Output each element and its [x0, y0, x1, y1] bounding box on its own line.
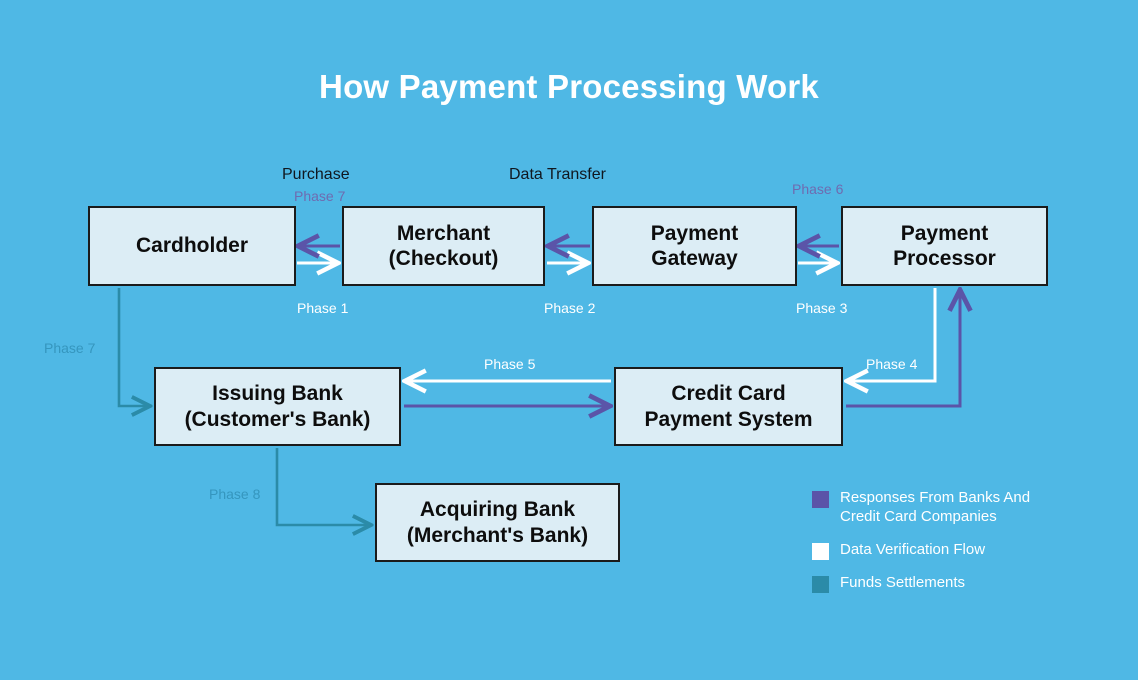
- label-data-transfer: Data Transfer: [509, 166, 606, 184]
- node-creditcard-line2: Payment System: [644, 407, 812, 432]
- purple-square-swatch: [812, 491, 829, 508]
- legend-item-data-verification: Data Verification Flow: [812, 541, 1030, 560]
- legend-label-data-verification: Data Verification Flow: [840, 541, 985, 560]
- label-phase-6: Phase 6: [792, 181, 843, 197]
- legend-label-funds-settlements: Funds Settlements: [840, 574, 965, 593]
- node-acquiring-line1: Acquiring Bank: [420, 498, 575, 521]
- legend-item-responses: Responses From Banks And Credit Card Com…: [812, 489, 1030, 527]
- node-acquiring-bank[interactable]: Acquiring Bank (Merchant's Bank): [375, 483, 620, 562]
- label-phase-1: Phase 1: [297, 300, 348, 316]
- node-merchant-line2: (Checkout): [389, 246, 499, 271]
- legend-label-responses: Responses From Banks And Credit Card Com…: [840, 489, 1030, 527]
- node-cardholder-line1: Cardholder: [136, 234, 248, 257]
- label-purchase: Purchase: [282, 166, 350, 184]
- label-phase-2: Phase 2: [544, 300, 595, 316]
- node-issuing-bank[interactable]: Issuing Bank (Customer's Bank): [154, 367, 401, 446]
- node-payment-processor[interactable]: Payment Processor: [841, 206, 1048, 286]
- white-square-swatch: [812, 543, 829, 560]
- label-phase-5: Phase 5: [484, 356, 535, 372]
- teal-square-swatch: [812, 576, 829, 593]
- arrow-cardholder-to-issuing: [119, 288, 149, 406]
- node-creditcard-line1: Credit Card: [671, 382, 785, 405]
- node-merchant[interactable]: Merchant (Checkout): [342, 206, 545, 286]
- label-phase-4: Phase 4: [866, 356, 917, 372]
- page-title: How Payment Processing Work: [0, 68, 1138, 106]
- node-issuing-line1: Issuing Bank: [212, 382, 343, 405]
- node-processor-line2: Processor: [893, 246, 996, 271]
- legend: Responses From Banks And Credit Card Com…: [812, 489, 1030, 607]
- diagram-canvas: How Payment Processing Work: [0, 0, 1138, 680]
- node-merchant-line1: Merchant: [397, 222, 490, 245]
- label-phase-7-left: Phase 7: [44, 340, 95, 356]
- node-payment-gateway[interactable]: Payment Gateway: [592, 206, 797, 286]
- node-acquiring-line2: (Merchant's Bank): [407, 523, 588, 548]
- legend-item-funds-settlements: Funds Settlements: [812, 574, 1030, 593]
- node-cardholder[interactable]: Cardholder: [88, 206, 296, 286]
- node-issuing-line2: (Customer's Bank): [185, 407, 371, 432]
- label-phase-8: Phase 8: [209, 486, 260, 502]
- node-processor-line1: Payment: [901, 222, 989, 245]
- label-phase-3: Phase 3: [796, 300, 847, 316]
- node-gateway-line1: Payment: [651, 222, 739, 245]
- node-gateway-line2: Gateway: [651, 246, 739, 271]
- label-phase-7-top: Phase 7: [294, 188, 345, 204]
- arrow-issuing-to-acquiring: [277, 448, 370, 525]
- arrow-creditcard-to-processor: [846, 291, 960, 406]
- node-credit-card-payment-system[interactable]: Credit Card Payment System: [614, 367, 843, 446]
